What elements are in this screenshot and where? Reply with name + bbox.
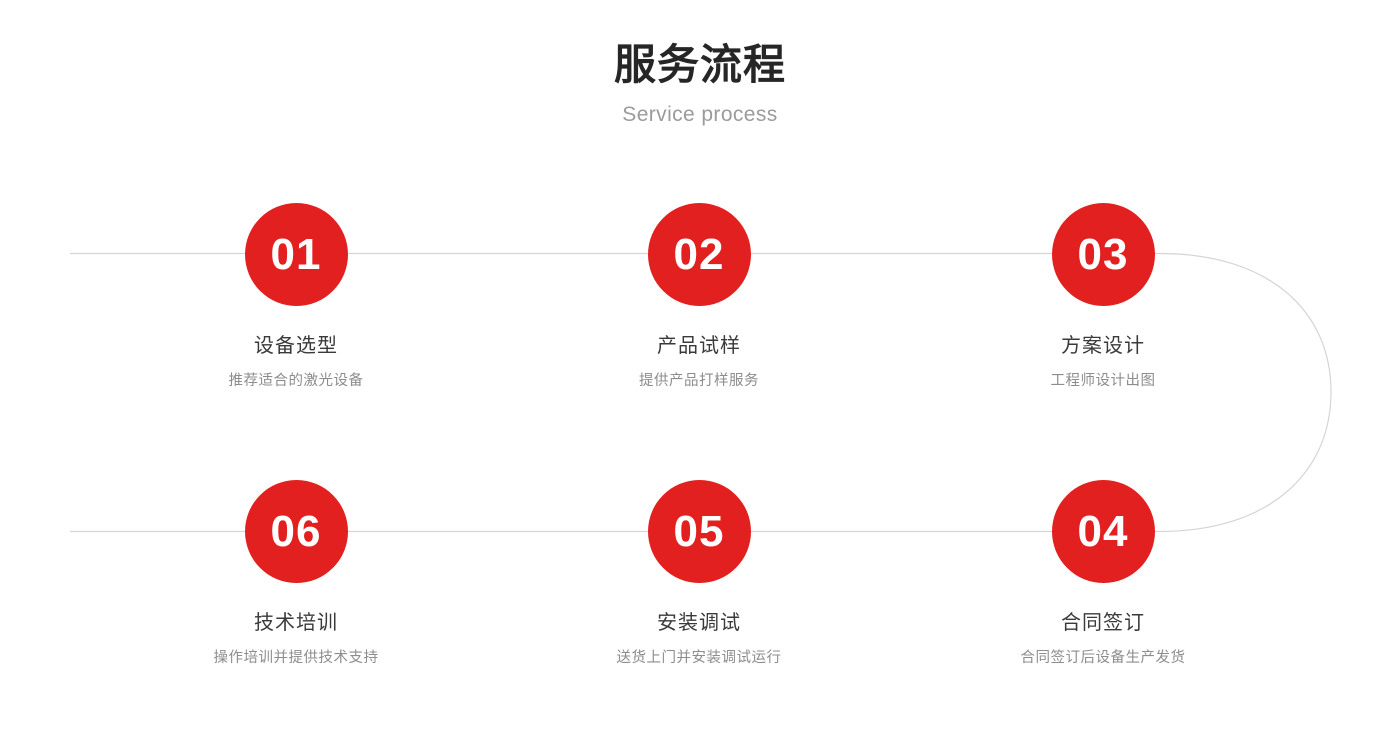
- step-item-05[interactable]: 05 安装调试 送货上门并安装调试运行: [569, 480, 829, 668]
- step-title-02: 产品试样: [569, 334, 829, 358]
- step-item-01[interactable]: 01 设备选型 推荐适合的激光设备: [166, 203, 426, 391]
- service-process-page: 服务流程 Service process 01 设备选型 推荐适合的激光设备 0…: [0, 0, 1400, 747]
- page-header: 服务流程 Service process: [0, 40, 1400, 127]
- step-item-03[interactable]: 03 方案设计 工程师设计出图: [973, 203, 1233, 391]
- step-number-badge-03[interactable]: 03: [1052, 203, 1155, 306]
- step-title-04: 合同签订: [973, 611, 1233, 635]
- step-title-01: 设备选型: [166, 334, 426, 358]
- step-item-04[interactable]: 04 合同签订 合同签订后设备生产发货: [973, 480, 1233, 668]
- step-description-01: 推荐适合的激光设备: [166, 372, 426, 391]
- step-number-badge-06[interactable]: 06: [245, 480, 348, 583]
- step-number-badge-04[interactable]: 04: [1052, 480, 1155, 583]
- step-description-06: 操作培训并提供技术支持: [166, 649, 426, 668]
- step-item-06[interactable]: 06 技术培训 操作培训并提供技术支持: [166, 480, 426, 668]
- page-title: 服务流程: [0, 40, 1400, 90]
- step-number-badge-01[interactable]: 01: [245, 203, 348, 306]
- step-description-05: 送货上门并安装调试运行: [569, 649, 829, 668]
- step-description-02: 提供产品打样服务: [569, 372, 829, 391]
- step-title-06: 技术培训: [166, 611, 426, 635]
- step-number-badge-02[interactable]: 02: [648, 203, 751, 306]
- step-title-03: 方案设计: [973, 334, 1233, 358]
- step-description-04: 合同签订后设备生产发货: [973, 649, 1233, 668]
- step-description-03: 工程师设计出图: [973, 372, 1233, 391]
- step-number-badge-05[interactable]: 05: [648, 480, 751, 583]
- page-subtitle: Service process: [0, 102, 1400, 127]
- step-title-05: 安装调试: [569, 611, 829, 635]
- step-item-02[interactable]: 02 产品试样 提供产品打样服务: [569, 203, 829, 391]
